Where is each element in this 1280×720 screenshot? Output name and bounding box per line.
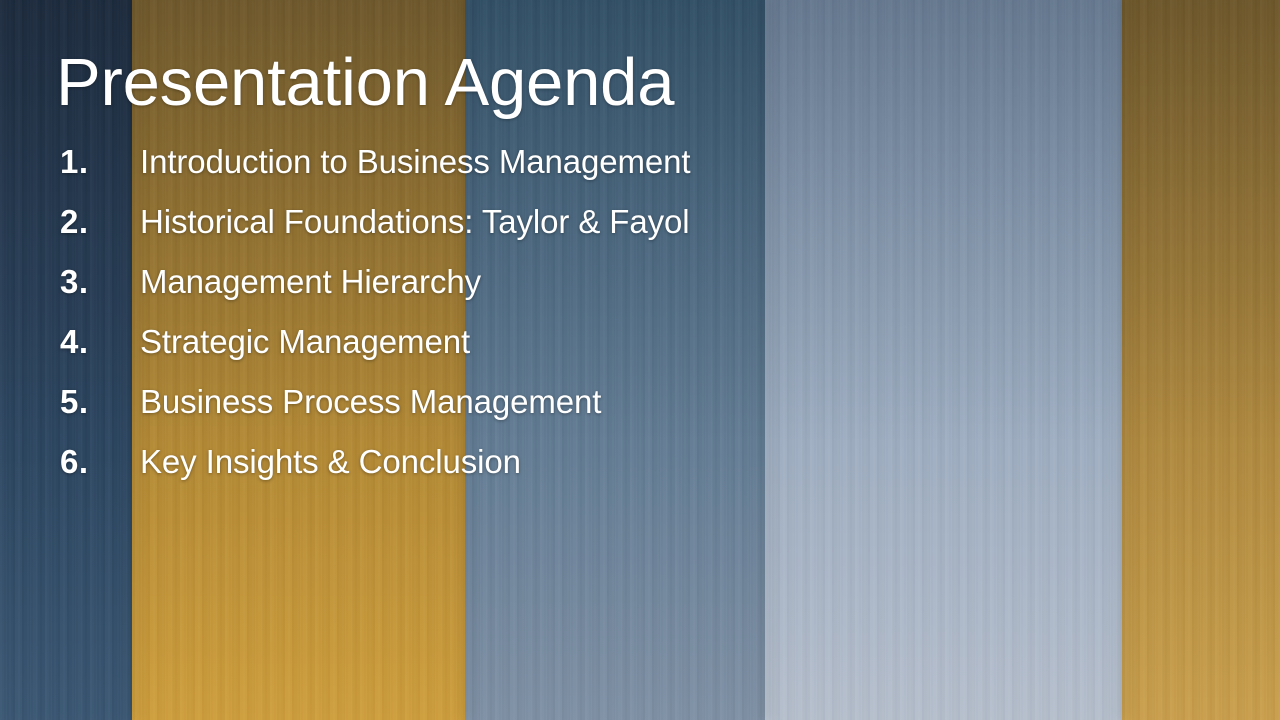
agenda-item: 5.Business Process Management	[60, 383, 1160, 443]
agenda-item-label: Management Hierarchy	[140, 263, 1160, 301]
presentation-slide: Presentation Agenda 1.Introduction to Bu…	[0, 0, 1280, 720]
page-title: Presentation Agenda	[56, 48, 674, 118]
agenda-item: 2.Historical Foundations: Taylor & Fayol	[60, 203, 1160, 263]
agenda-item: 4.Strategic Management	[60, 323, 1160, 383]
agenda-item-label: Business Process Management	[140, 383, 1160, 421]
agenda-item: 3.Management Hierarchy	[60, 263, 1160, 323]
agenda-item-label: Strategic Management	[140, 323, 1160, 361]
slide-content: Presentation Agenda 1.Introduction to Bu…	[0, 0, 1280, 720]
agenda-item: 6.Key Insights & Conclusion	[60, 443, 1160, 503]
agenda-item-label: Historical Foundations: Taylor & Fayol	[140, 203, 1160, 241]
agenda-item-number: 3.	[60, 263, 140, 301]
agenda-item-label: Key Insights & Conclusion	[140, 443, 1160, 481]
agenda-item-number: 6.	[60, 443, 140, 481]
agenda-item-number: 4.	[60, 323, 140, 361]
agenda-item-number: 5.	[60, 383, 140, 421]
agenda-item: 1.Introduction to Business Management	[60, 143, 1160, 203]
agenda-item-number: 2.	[60, 203, 140, 241]
agenda-item-label: Introduction to Business Management	[140, 143, 1160, 181]
agenda-list: 1.Introduction to Business Management2.H…	[60, 143, 1160, 503]
agenda-item-number: 1.	[60, 143, 140, 181]
